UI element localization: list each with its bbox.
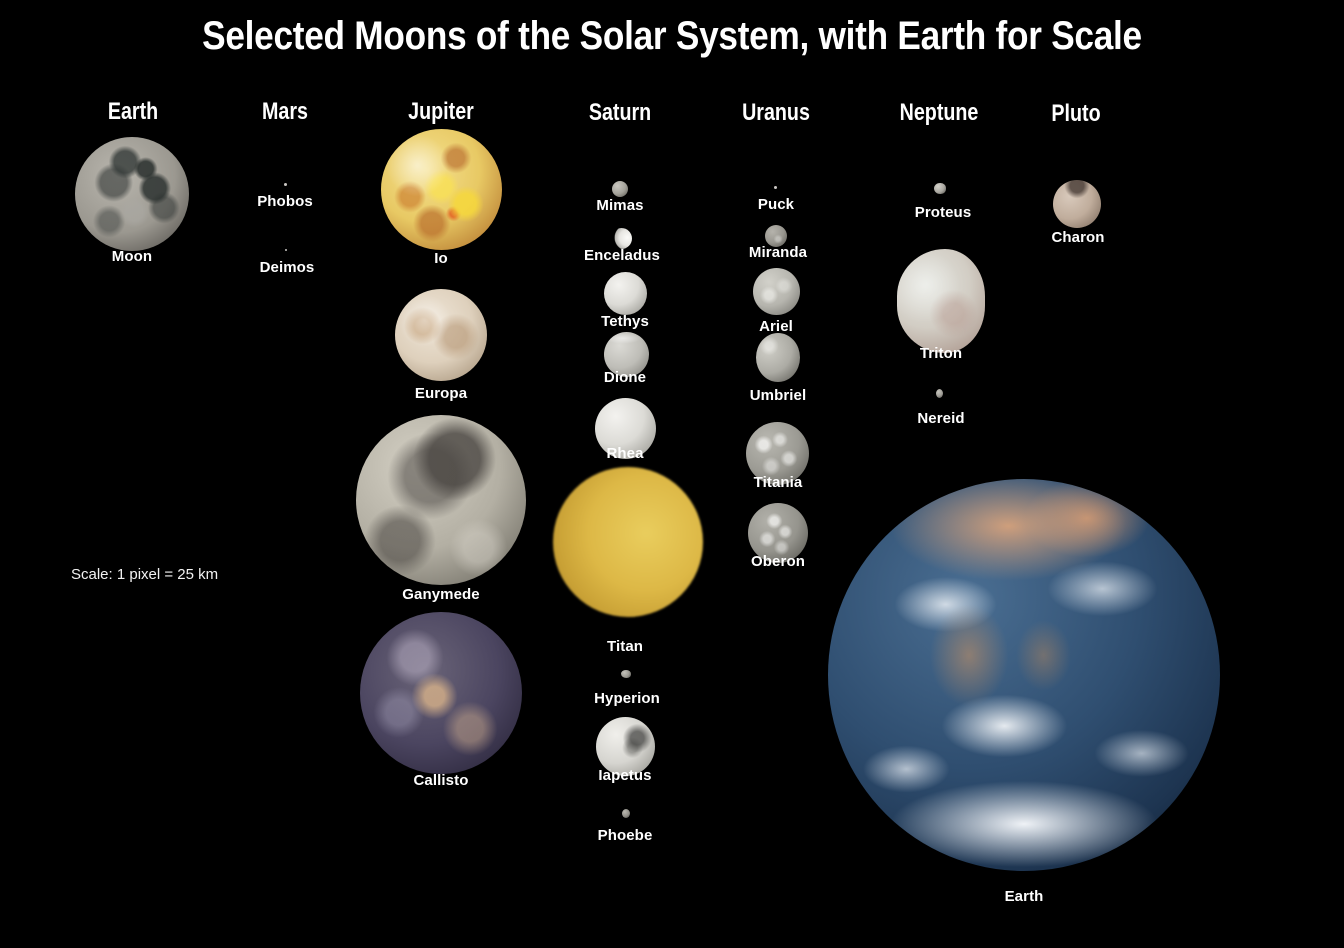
body-ganymede <box>356 415 526 585</box>
body-triton <box>897 249 985 353</box>
body-phobos <box>284 183 287 186</box>
label-puck: Puck <box>701 196 851 213</box>
label-phobos: Phobos <box>210 193 360 210</box>
label-io: Io <box>366 250 516 267</box>
label-callisto: Callisto <box>366 772 516 789</box>
column-header-neptune: Neptune <box>878 99 1001 127</box>
column-header-saturn: Saturn <box>559 99 682 127</box>
label-earth: Earth <box>949 888 1099 905</box>
body-ariel <box>753 268 800 315</box>
body-moon <box>75 137 189 251</box>
label-deimos: Deimos <box>212 259 362 276</box>
label-phoebe: Phoebe <box>550 827 700 844</box>
label-nereid: Nereid <box>866 410 1016 427</box>
label-ganymede: Ganymede <box>366 586 516 603</box>
column-header-earth: Earth <box>72 98 195 126</box>
label-mimas: Mimas <box>545 197 695 214</box>
label-oberon: Oberon <box>703 553 853 570</box>
infographic-canvas: Selected Moons of the Solar System, with… <box>0 0 1344 948</box>
column-header-uranus: Uranus <box>715 99 838 127</box>
body-puck <box>774 186 777 189</box>
label-titan: Titan <box>550 638 700 655</box>
label-umbriel: Umbriel <box>703 387 853 404</box>
body-tethys <box>604 272 647 315</box>
body-hyperion <box>621 670 631 678</box>
body-deimos <box>285 249 287 251</box>
body-phoebe <box>622 809 630 818</box>
label-dione: Dione <box>550 369 700 386</box>
label-iapetus: Iapetus <box>550 767 700 784</box>
body-europa <box>395 289 487 381</box>
body-io <box>381 129 502 250</box>
body-enceladus <box>611 228 632 249</box>
column-header-pluto: Pluto <box>1015 100 1138 128</box>
label-rhea: Rhea <box>550 445 700 462</box>
page-title: Selected Moons of the Solar System, with… <box>81 14 1264 59</box>
body-callisto <box>360 612 522 774</box>
body-umbriel <box>756 333 800 382</box>
column-header-mars: Mars <box>224 98 347 126</box>
label-triton: Triton <box>866 345 1016 362</box>
body-mimas <box>612 181 628 197</box>
body-charon <box>1053 180 1101 228</box>
body-nereid <box>936 389 943 398</box>
label-proteus: Proteus <box>866 204 1020 221</box>
label-miranda: Miranda <box>703 244 853 261</box>
label-moon: Moon <box>57 248 207 265</box>
label-europa: Europa <box>366 385 516 402</box>
label-titania: Titania <box>703 474 853 491</box>
label-tethys: Tethys <box>550 313 700 330</box>
body-titan <box>553 467 703 617</box>
column-header-jupiter: Jupiter <box>380 98 503 126</box>
label-charon: Charon <box>1003 229 1153 246</box>
label-enceladus: Enceladus <box>545 247 699 264</box>
label-hyperion: Hyperion <box>550 690 704 707</box>
body-earth <box>828 479 1220 871</box>
scale-note: Scale: 1 pixel = 25 km <box>71 566 218 583</box>
body-proteus <box>934 183 946 194</box>
